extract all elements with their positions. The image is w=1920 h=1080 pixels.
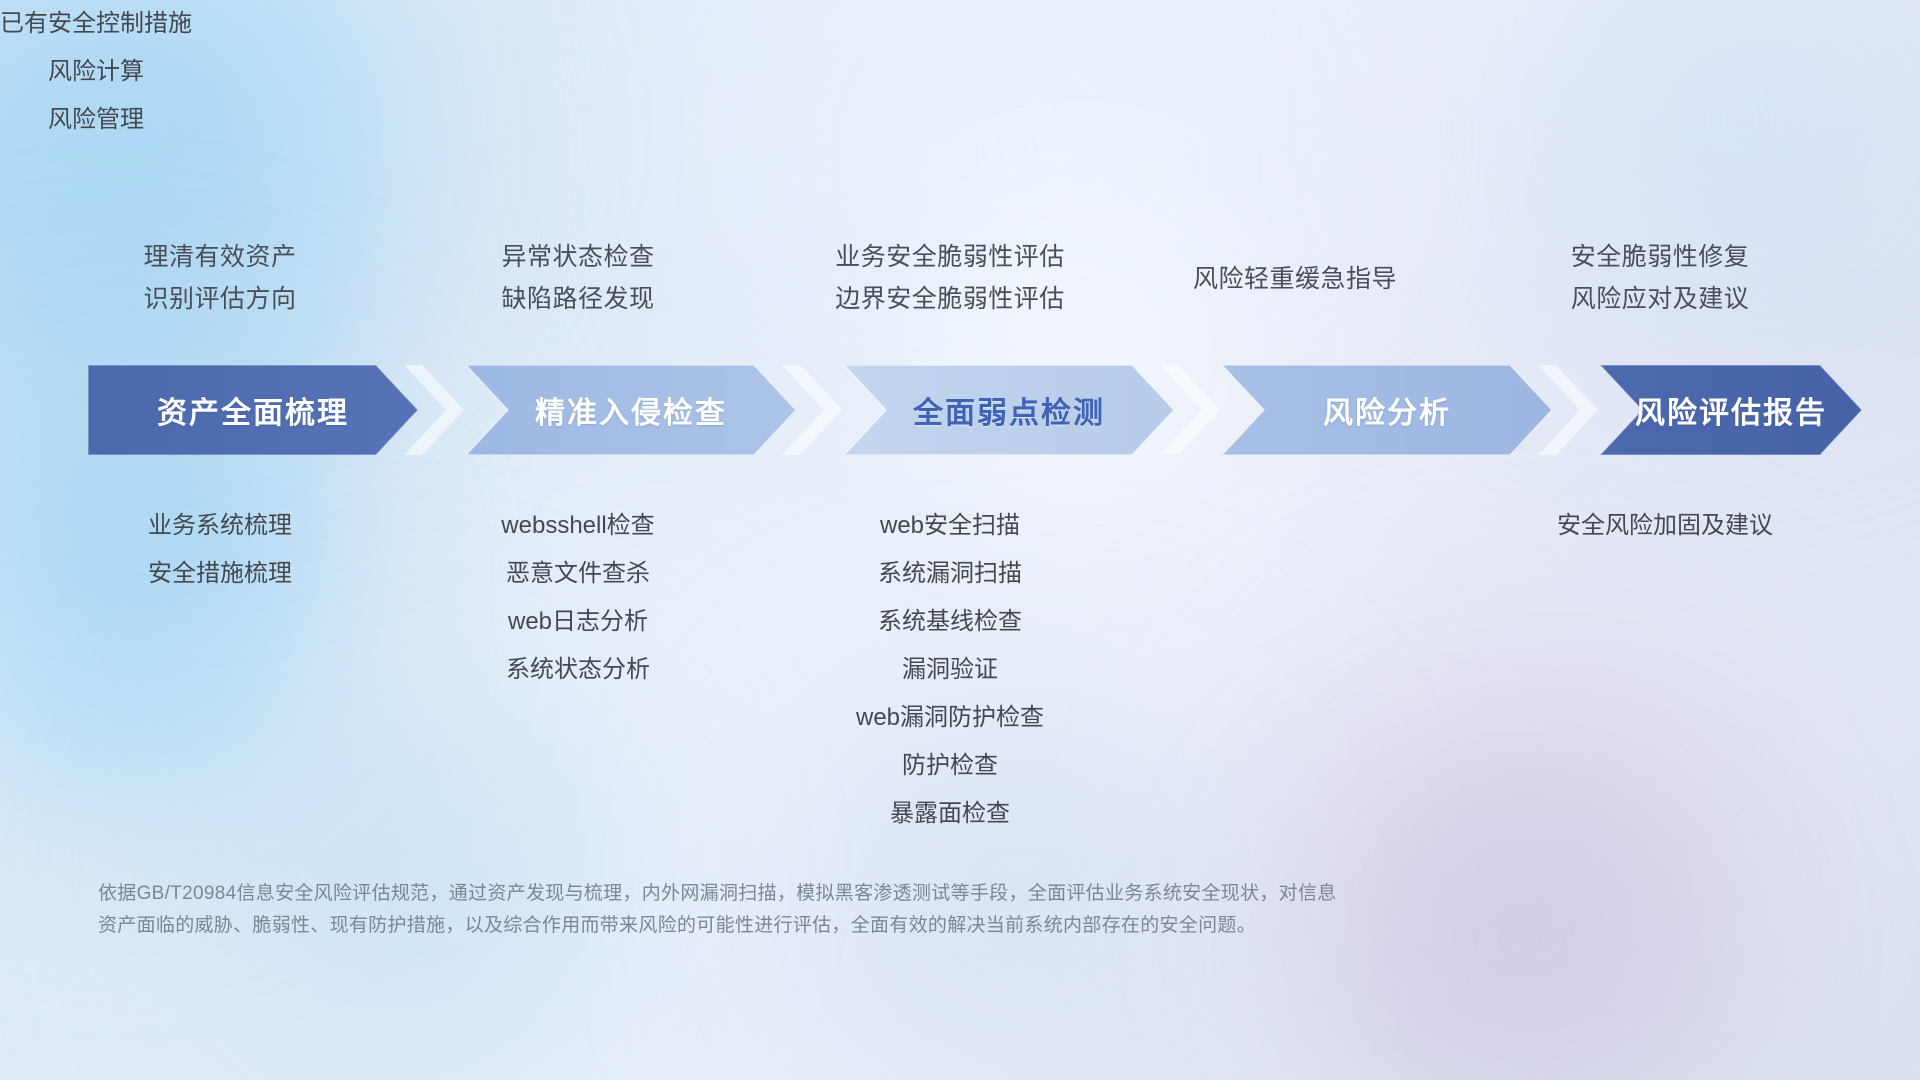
top-notes-step-1: 理清有效资产 识别评估方向 — [60, 236, 380, 320]
top-notes-step-2: 异常状态检查 缺陷路径发现 — [418, 236, 738, 320]
list-item: 暴露面检查 — [790, 790, 1110, 838]
arrow-label-3: 全面弱点检测 — [913, 388, 1105, 432]
list-item: websshell检查 — [418, 502, 738, 550]
list-item: 系统漏洞扫描 — [790, 550, 1110, 598]
top-note: 识别评估方向 — [60, 278, 380, 320]
arrow-label-4: 风险分析 — [1323, 388, 1451, 432]
items-step-1: 业务系统梳理 安全措施梳理 — [60, 502, 380, 598]
items-step-4: 已有安全控制措施 风险计算 风险管理 — [0, 0, 192, 144]
top-note: 安全脆弱性修复 — [1490, 236, 1830, 278]
top-note: 理清有效资产 — [60, 236, 380, 278]
list-item: 风险管理 — [0, 96, 192, 144]
arrow-step-2[interactable]: 精准入侵检查 — [466, 365, 796, 455]
footer-line-2: 资产面临的威胁、脆弱性、现有防护措施，以及综合作用而带来风险的可能性进行评估，全… — [98, 910, 1658, 942]
list-item: 风险计算 — [0, 48, 192, 96]
list-item: web日志分析 — [418, 598, 738, 646]
top-note: 边界安全脆弱性评估 — [760, 278, 1140, 320]
arrow-label-5: 风险评估报告 — [1635, 388, 1827, 432]
items-step-2: websshell检查 恶意文件查杀 web日志分析 系统状态分析 — [418, 502, 738, 694]
arrow-step-3[interactable]: 全面弱点检测 — [844, 365, 1174, 455]
arrow-label-2: 精准入侵检查 — [535, 388, 727, 432]
arrow-step-1[interactable]: 资产全面梳理 — [88, 365, 418, 455]
list-item: 系统状态分析 — [418, 646, 738, 694]
list-item: 防护检查 — [790, 742, 1110, 790]
top-note: 风险轻重缓急指导 — [1130, 258, 1460, 300]
arrow-connector-3 — [1160, 365, 1230, 455]
top-note: 业务安全脆弱性评估 — [760, 236, 1140, 278]
arrow-connector-4 — [1538, 365, 1608, 455]
footer-line-1: 依据GB/T20984信息安全风险评估规范，通过资产发现与梳理，内外网漏洞扫描，… — [98, 878, 1658, 910]
list-item: 已有安全控制措施 — [0, 0, 192, 48]
list-item: 漏洞验证 — [790, 646, 1110, 694]
arrow-step-5[interactable]: 风险评估报告 — [1600, 365, 1862, 455]
items-step-3: web安全扫描 系统漏洞扫描 系统基线检查 漏洞验证 web漏洞防护检查 防护检… — [790, 502, 1110, 838]
list-item: 恶意文件查杀 — [418, 550, 738, 598]
list-item: web漏洞防护检查 — [790, 694, 1110, 742]
list-item: 业务系统梳理 — [60, 502, 380, 550]
top-note: 异常状态检查 — [418, 236, 738, 278]
list-item: 安全措施梳理 — [60, 550, 380, 598]
top-note: 缺陷路径发现 — [418, 278, 738, 320]
top-notes-step-4: 风险轻重缓急指导 — [1130, 258, 1460, 300]
arrow-step-4[interactable]: 风险分析 — [1222, 365, 1552, 455]
process-diagram: 理清有效资产 识别评估方向 异常状态检查 缺陷路径发现 业务安全脆弱性评估 边界… — [0, 0, 1920, 1080]
arrow-label-1: 资产全面梳理 — [157, 388, 349, 432]
process-arrow-band: 资产全面梳理 精准入侵检查 — [0, 365, 1920, 455]
top-notes-step-3: 业务安全脆弱性评估 边界安全脆弱性评估 — [760, 236, 1140, 320]
footer-description: 依据GB/T20984信息安全风险评估规范，通过资产发现与梳理，内外网漏洞扫描，… — [98, 878, 1658, 942]
list-item: web安全扫描 — [790, 502, 1110, 550]
list-item: 安全风险加固及建议 — [1500, 502, 1830, 550]
list-item: 系统基线检查 — [790, 598, 1110, 646]
top-notes-step-5: 安全脆弱性修复 风险应对及建议 — [1490, 236, 1830, 320]
arrow-connector-1 — [404, 365, 474, 455]
items-step-5: 安全风险加固及建议 — [1500, 502, 1830, 550]
top-note: 风险应对及建议 — [1490, 278, 1830, 320]
arrow-connector-2 — [782, 365, 852, 455]
